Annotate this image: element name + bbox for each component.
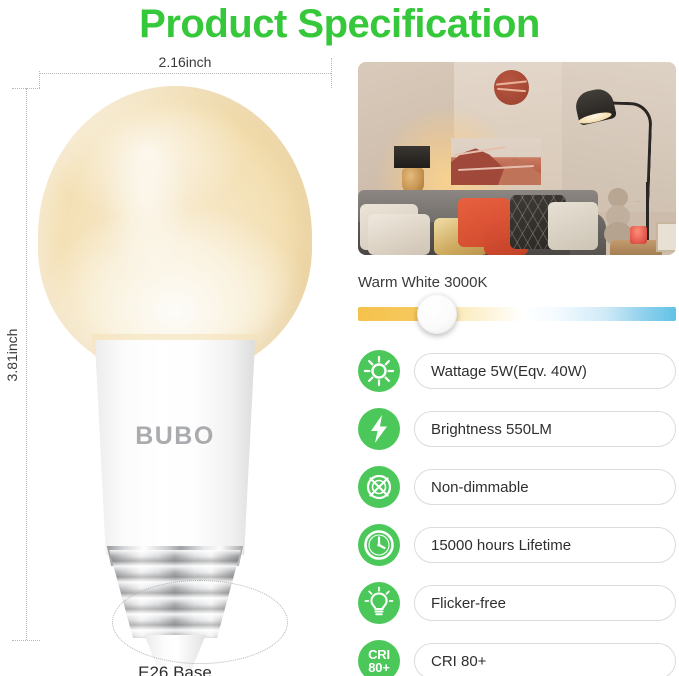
color-temperature-slider-track[interactable] bbox=[358, 307, 676, 321]
feature-list: Wattage 5W(Eqv. 40W) Brightness 550LM bbox=[358, 342, 676, 676]
width-dimension-cap-right bbox=[331, 58, 332, 88]
bulb-glass-highlight bbox=[100, 148, 192, 278]
color-temperature-slider-knob[interactable] bbox=[417, 294, 457, 334]
height-dimension-cap-top bbox=[12, 88, 40, 89]
feature-label-lifetime: 15000 hours Lifetime bbox=[414, 527, 676, 563]
bulb-glass-globe bbox=[38, 86, 312, 376]
width-dimension-label: 2.16inch bbox=[39, 53, 331, 71]
base-label: E26 Base bbox=[0, 663, 350, 676]
photo-pillow-cream-2 bbox=[368, 214, 430, 255]
feature-row-lifetime: 15000 hours Lifetime bbox=[358, 516, 676, 574]
height-dimension-label: 3.81inch bbox=[3, 315, 21, 395]
feature-row-cri: CRI 80+ CRI 80+ bbox=[358, 632, 676, 676]
feature-label-wattage: Wattage 5W(Eqv. 40W) bbox=[414, 353, 676, 389]
clock-icon bbox=[358, 524, 400, 566]
photo-picture-frame bbox=[656, 222, 676, 252]
width-dimension-line bbox=[39, 73, 331, 74]
feature-label-cri: CRI 80+ bbox=[414, 643, 676, 676]
feature-row-wattage: Wattage 5W(Eqv. 40W) bbox=[358, 342, 676, 400]
height-dimension-cap-bottom bbox=[12, 640, 40, 641]
feature-label-brightness: Brightness 550LM bbox=[414, 411, 676, 447]
feature-label-flicker: Flicker-free bbox=[414, 585, 676, 621]
bulb-diagram-panel: 2.16inch 3.81inch BUBO E26 Base bbox=[0, 50, 350, 676]
feature-row-flicker: Flicker-free bbox=[358, 574, 676, 632]
page-title: Product Specification bbox=[0, 0, 679, 50]
feature-row-brightness: Brightness 550LM bbox=[358, 400, 676, 458]
feature-label-dimmable: Non-dimmable bbox=[414, 469, 676, 505]
base-highlight-ellipse bbox=[112, 580, 288, 664]
photo-pillow-cream-3 bbox=[548, 202, 598, 250]
feature-row-dimmable: Non-dimmable bbox=[358, 458, 676, 516]
lightbulb-icon bbox=[358, 582, 400, 624]
no-dimmer-icon bbox=[358, 466, 400, 508]
photo-table-lamp-shade bbox=[394, 146, 430, 168]
product-specification-page: Product Specification 2.16inch 3.81inch … bbox=[0, 0, 679, 676]
lightning-bolt-icon bbox=[358, 408, 400, 450]
specs-panel: Warm White 3000K bbox=[355, 50, 679, 676]
photo-candle bbox=[630, 226, 647, 244]
cri-badge-line-2: 80+ bbox=[368, 661, 389, 674]
color-temperature-label: Warm White 3000K bbox=[358, 274, 488, 291]
height-dimension-line bbox=[26, 88, 27, 640]
cri-badge-icon: CRI 80+ bbox=[358, 640, 400, 676]
bulb-brand-name: BUBO bbox=[84, 422, 266, 451]
sun-icon bbox=[358, 350, 400, 392]
living-room-photo bbox=[358, 62, 676, 255]
